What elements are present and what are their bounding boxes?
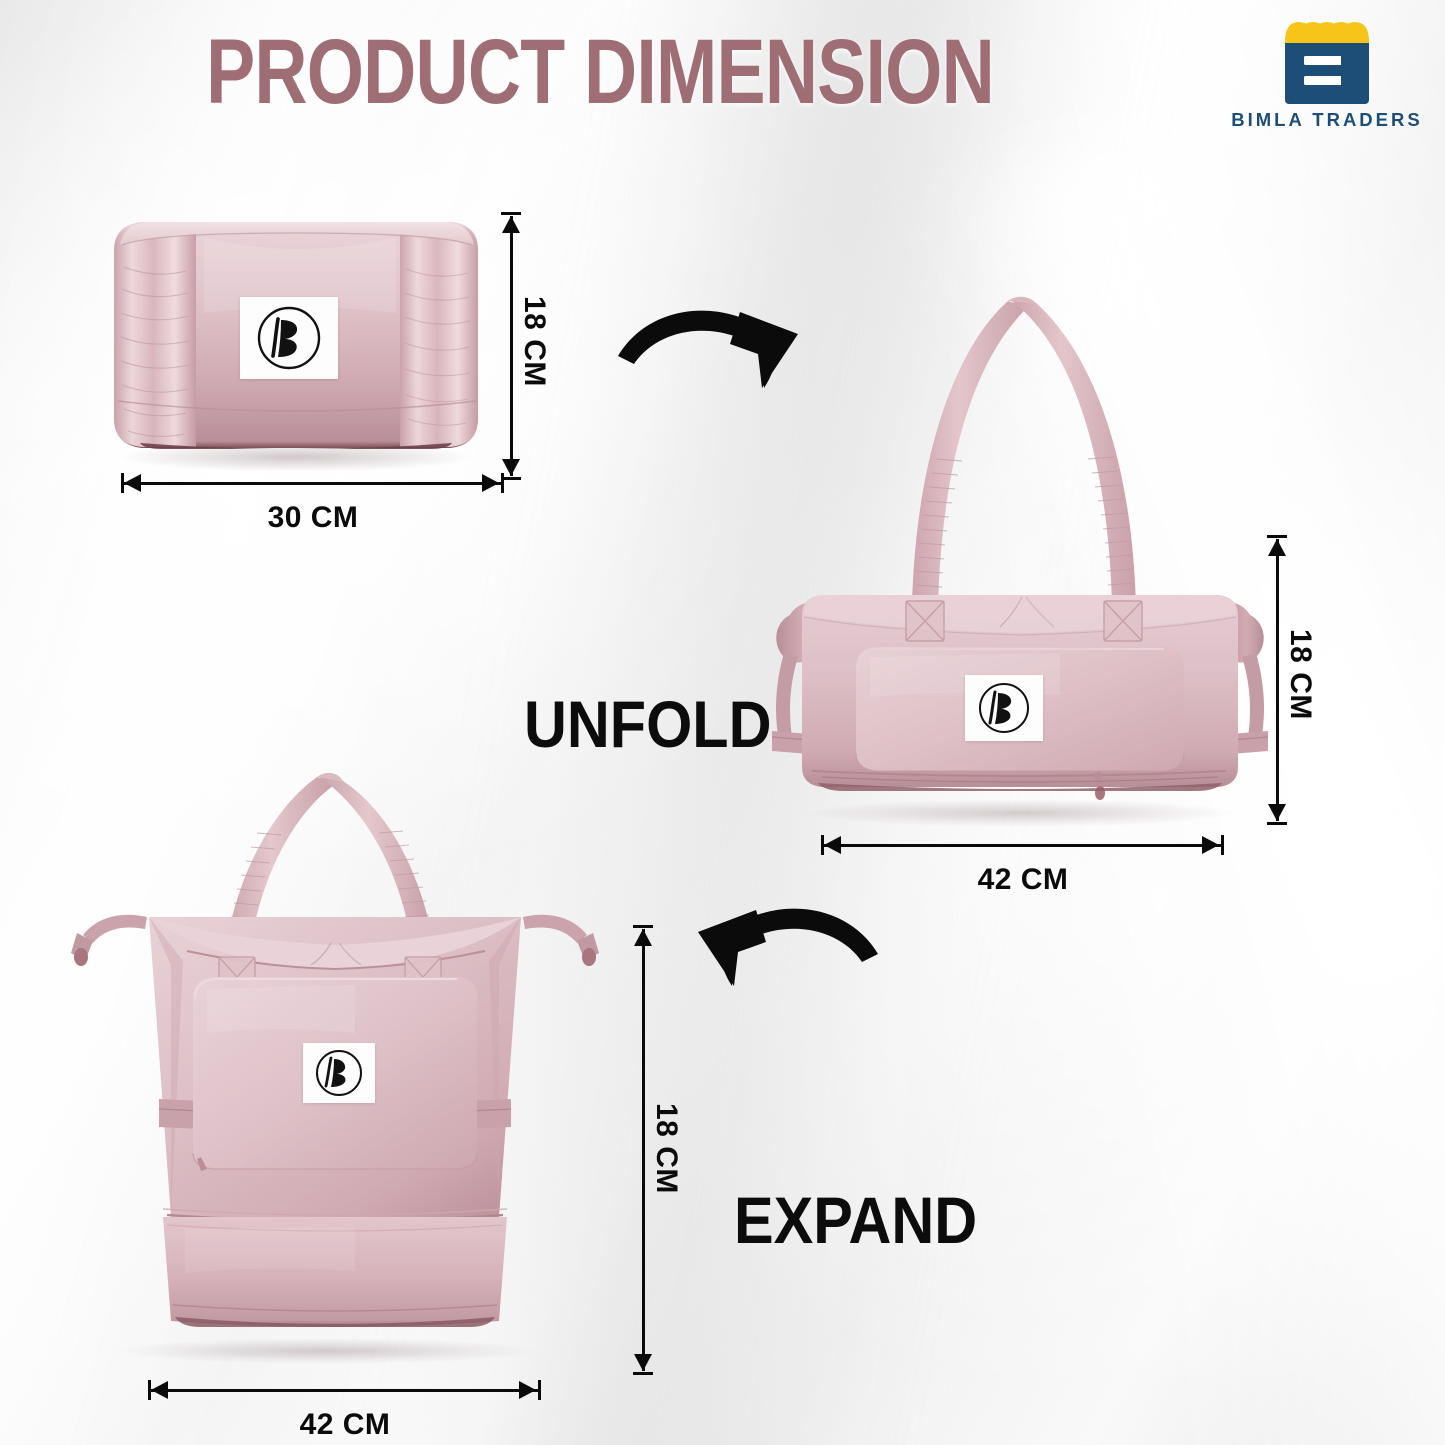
brand-name: BIMLA TRADERS: [1231, 109, 1422, 131]
expanded-bag-image: [55, 765, 615, 1365]
step-label-unfold: UNFOLD: [524, 686, 771, 762]
dimension-duffel-height: 18 CM: [1262, 535, 1324, 825]
dimension-folded-height: 18 CM: [496, 212, 556, 480]
dimension-duffel-width: 42 CM: [818, 830, 1228, 892]
brand-patch-duffel: [965, 675, 1043, 741]
brand-logo: BIMLA TRADERS: [1227, 16, 1427, 142]
dimension-value: 18 CM: [649, 1103, 683, 1194]
curved-arrow-down-left-icon: [684, 898, 884, 1048]
dimension-value: 42 CM: [818, 863, 1228, 897]
dimension-value: 30 CM: [118, 501, 508, 535]
dimension-value: 18 CM: [1283, 629, 1317, 720]
dimension-folded-width: 30 CM: [118, 468, 508, 530]
dimension-expanded-width: 42 CM: [145, 1375, 545, 1437]
dimension-value: 18 CM: [517, 296, 551, 387]
dimension-expanded-height: 18 CM: [628, 925, 690, 1375]
dimension-value: 42 CM: [145, 1408, 545, 1442]
duffel-bag-image: [760, 285, 1280, 830]
storefront-awning-b-monogram-icon: [1273, 16, 1381, 106]
brand-patch-expanded: [303, 1043, 375, 1103]
infographic-canvas: PRODUCT DIMENSION: [0, 0, 1445, 1445]
folded-bag-image: [100, 205, 490, 470]
step-label-expand: EXPAND: [734, 1182, 977, 1258]
brand-patch-folded: [240, 297, 338, 379]
page-title: PRODUCT DIMENSION: [120, 26, 1080, 118]
